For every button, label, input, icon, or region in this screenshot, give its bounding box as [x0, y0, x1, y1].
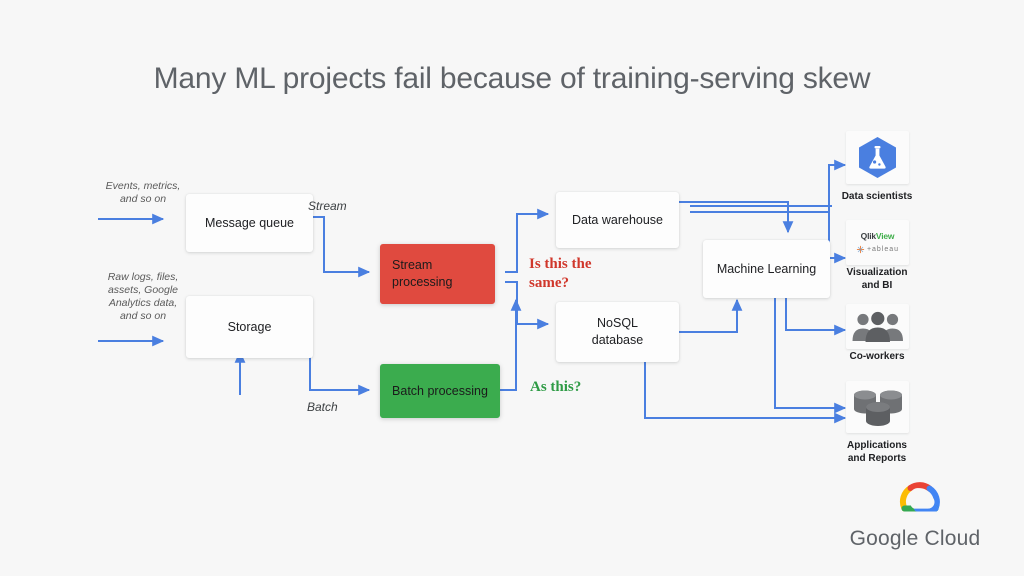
google-cloud-wordmark: Google Cloud: [845, 527, 985, 551]
node-message-queue[interactable]: Message queue: [186, 194, 313, 252]
node-batch-processing[interactable]: Batch processing: [380, 364, 500, 418]
data-scientists-label: Data scientists: [817, 191, 937, 204]
node-machine-learning[interactable]: Machine Learning: [703, 240, 830, 298]
as-this-annotation: As this?: [530, 378, 625, 397]
is-this-the-same-annotation: Is this the same?: [529, 255, 624, 293]
node-nosql-database[interactable]: NoSQL database: [556, 302, 679, 362]
node-batch-processing-label: Batch processing: [392, 383, 488, 400]
page-title: Many ML projects fail because of trainin…: [0, 62, 1024, 96]
cloud-wordmark: Cloud: [925, 527, 981, 550]
visualization-and-bi-label: Visualization and BI: [817, 267, 937, 292]
visualization-logos-card[interactable]: QlikView +ableau: [846, 220, 909, 265]
google-cloud-logo-icon: [894, 478, 946, 522]
node-stream-processing[interactable]: Stream processing: [380, 244, 495, 304]
flask-hexagon-icon: [854, 135, 901, 180]
applications-and-reports-label: Applications and Reports: [817, 440, 937, 465]
node-nosql-database-label: NoSQL database: [592, 315, 643, 349]
google-wordmark: Google: [850, 527, 925, 550]
people-group-icon: [850, 311, 906, 343]
tableau-mark-icon: [856, 245, 865, 254]
slide-canvas: Many ML projects fail because of trainin…: [0, 0, 1024, 576]
edge-label-batch: Batch: [307, 400, 338, 414]
data-scientists-card[interactable]: [846, 131, 909, 184]
node-data-warehouse[interactable]: Data warehouse: [556, 192, 679, 248]
co-workers-card[interactable]: [846, 304, 909, 349]
co-workers-label: Co-workers: [817, 351, 937, 364]
node-machine-learning-label: Machine Learning: [717, 261, 816, 278]
events-input-label: Events, metrics, and so on: [88, 180, 198, 206]
tableau-logo: +ableau: [856, 245, 899, 254]
applications-reports-card[interactable]: [846, 381, 909, 433]
qlikview-logo: QlikView: [861, 231, 895, 241]
node-message-queue-label: Message queue: [205, 215, 294, 232]
node-data-warehouse-label: Data warehouse: [572, 212, 663, 229]
database-cylinders-icon: [850, 385, 906, 429]
node-storage[interactable]: Storage: [186, 296, 313, 358]
node-stream-processing-label: Stream processing: [392, 257, 452, 291]
node-storage-label: Storage: [228, 319, 272, 336]
edge-label-stream: Stream: [308, 199, 347, 213]
